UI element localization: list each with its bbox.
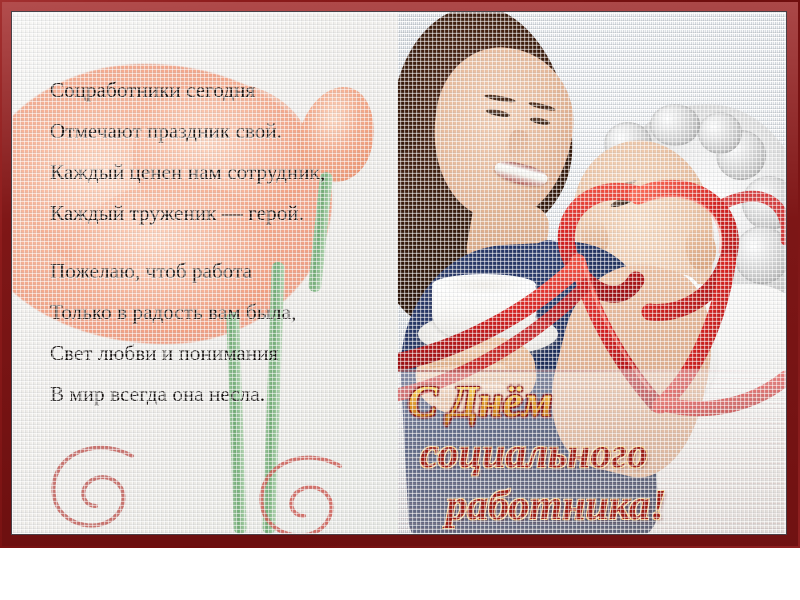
greeting-card: Соцработники сегодня Отмечают праздник с…: [0, 0, 800, 548]
card-frame-inner-line: [11, 11, 787, 535]
